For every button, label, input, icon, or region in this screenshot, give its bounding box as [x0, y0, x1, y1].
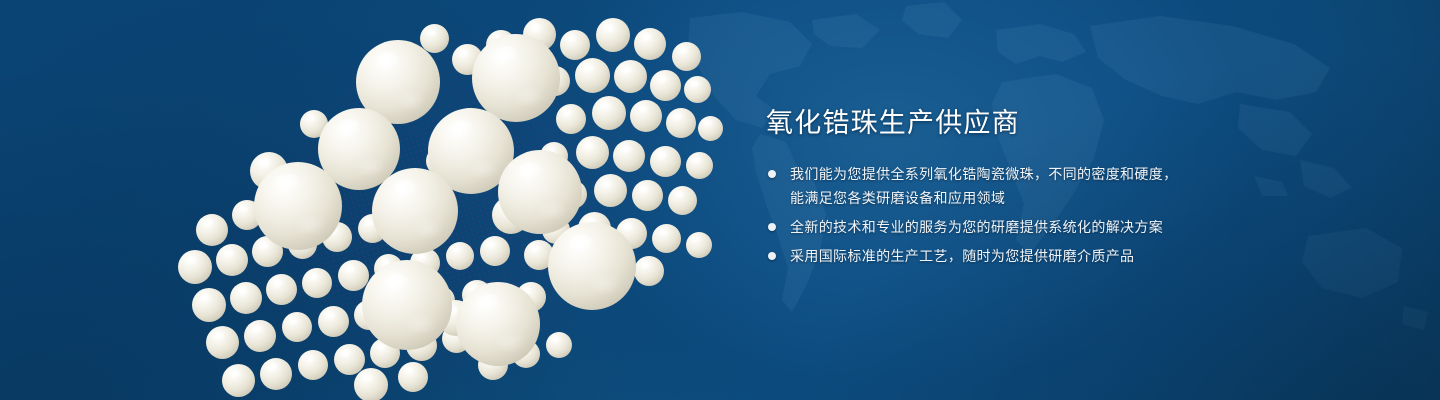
bullet-dot-icon: [768, 223, 776, 231]
bullet-dot-icon: [768, 170, 776, 178]
list-item: 采用国际标准的生产工艺，随时为您提供研磨介质产品: [766, 244, 1236, 268]
list-item: 全新的技术和专业的服务为您的研磨提供系统化的解决方案: [766, 215, 1236, 239]
bullet-line: 全新的技术和专业的服务为您的研磨提供系统化的解决方案: [790, 215, 1236, 239]
bullet-line: 采用国际标准的生产工艺，随时为您提供研磨介质产品: [790, 244, 1236, 268]
bullet-line: 能满足您各类研磨设备和应用领域: [790, 186, 1236, 210]
bullet-line: 我们能为您提供全系列氧化锆陶瓷微珠，不同的密度和硬度，: [790, 162, 1236, 186]
zirconia-beads-cluster: [0, 0, 780, 400]
banner-title: 氧化锆珠生产供应商: [766, 106, 1236, 140]
bullet-dot-icon: [768, 252, 776, 260]
banner-bullet-list: 我们能为您提供全系列氧化锆陶瓷微珠，不同的密度和硬度， 能满足您各类研磨设备和应…: [766, 162, 1236, 268]
banner-text-block: 氧化锆珠生产供应商 我们能为您提供全系列氧化锆陶瓷微珠，不同的密度和硬度， 能满…: [766, 106, 1236, 273]
list-item: 我们能为您提供全系列氧化锆陶瓷微珠，不同的密度和硬度， 能满足您各类研磨设备和应…: [766, 162, 1236, 210]
product-hero-banner: 氧化锆珠生产供应商 我们能为您提供全系列氧化锆陶瓷微珠，不同的密度和硬度， 能满…: [0, 0, 1440, 400]
